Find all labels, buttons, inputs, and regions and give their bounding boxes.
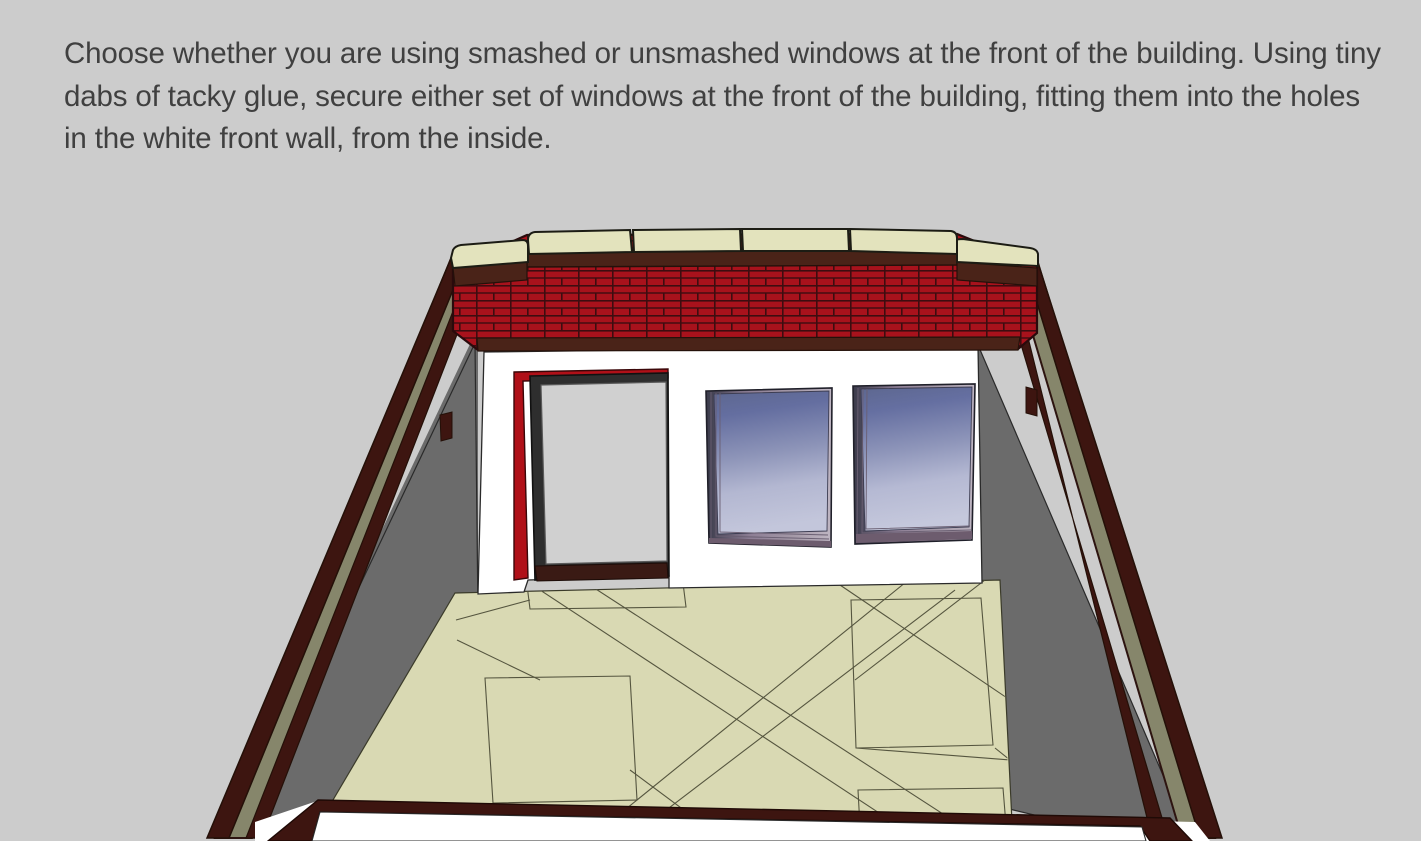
coping-stone-4 bbox=[850, 229, 957, 254]
coping-stone-1 bbox=[528, 230, 632, 254]
window-left[interactable] bbox=[706, 388, 832, 547]
window-right-glass bbox=[861, 387, 972, 531]
door-panel bbox=[541, 382, 667, 564]
door-assembly[interactable] bbox=[514, 369, 669, 581]
coping-stone-left bbox=[451, 240, 528, 268]
screenshot-root: Choose whether you are using smashed or … bbox=[0, 0, 1421, 841]
window-right[interactable] bbox=[853, 384, 975, 544]
coping-stone-3 bbox=[742, 229, 849, 251]
door-threshold bbox=[535, 563, 668, 581]
window-left-glass bbox=[714, 391, 829, 534]
left-wall-slot bbox=[440, 412, 452, 441]
instruction-text: Choose whether you are using smashed or … bbox=[64, 33, 1384, 161]
coping-stone-2 bbox=[633, 229, 741, 252]
right-wall-slot bbox=[1026, 387, 1037, 416]
parapet-bottom-band bbox=[477, 337, 1020, 351]
